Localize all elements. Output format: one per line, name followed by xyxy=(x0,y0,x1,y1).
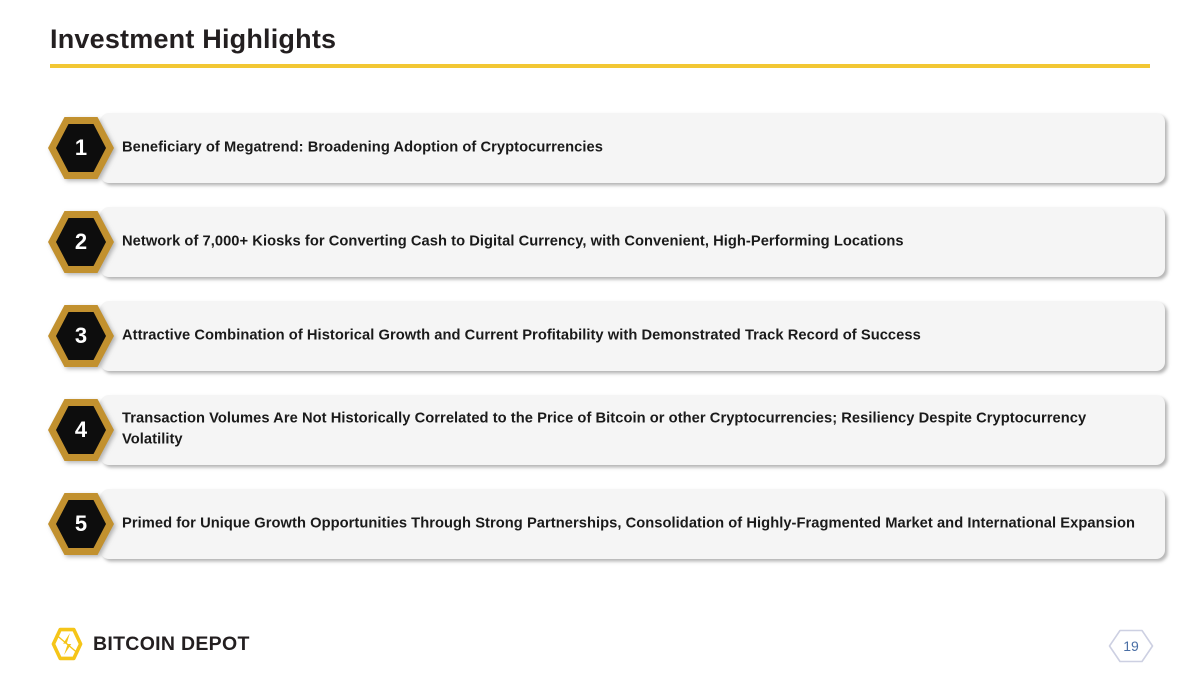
highlight-text: Beneficiary of Megatrend: Broadening Ado… xyxy=(122,137,1147,158)
list-item[interactable]: Primed for Unique Growth Opportunities T… xyxy=(0,489,1200,559)
highlight-number-badge: 3 xyxy=(48,303,114,369)
highlight-card[interactable]: Network of 7,000+ Kiosks for Converting … xyxy=(100,207,1165,277)
highlight-number-badge: 2 xyxy=(48,209,114,275)
investment-highlights-list: Beneficiary of Megatrend: Broadening Ado… xyxy=(0,113,1200,583)
highlight-number-badge: 5 xyxy=(48,491,114,557)
highlight-number-badge: 1 xyxy=(48,115,114,181)
page-number: 19 xyxy=(1108,629,1154,663)
list-item[interactable]: Attractive Combination of Historical Gro… xyxy=(0,301,1200,371)
highlight-card[interactable]: Transaction Volumes Are Not Historically… xyxy=(100,395,1165,465)
highlight-text: Transaction Volumes Are Not Historically… xyxy=(122,409,1147,452)
highlight-card[interactable]: Attractive Combination of Historical Gro… xyxy=(100,301,1165,371)
page-number-badge: 19 xyxy=(1108,629,1154,663)
highlight-number: 3 xyxy=(48,303,114,369)
list-item[interactable]: Transaction Volumes Are Not Historically… xyxy=(0,395,1200,465)
highlight-card[interactable]: Beneficiary of Megatrend: Broadening Ado… xyxy=(100,113,1165,183)
hexagon-lightning-bolt-icon xyxy=(50,627,84,661)
brand-logo: BITCOIN DEPOT xyxy=(50,627,250,661)
highlight-text: Network of 7,000+ Kiosks for Converting … xyxy=(122,231,1147,252)
highlight-number-badge: 4 xyxy=(48,397,114,463)
highlight-number: 4 xyxy=(48,397,114,463)
page-title: Investment Highlights xyxy=(50,24,336,55)
highlight-text: Primed for Unique Growth Opportunities T… xyxy=(122,513,1147,534)
highlight-number: 5 xyxy=(48,491,114,557)
title-underline-rule xyxy=(50,64,1150,68)
highlight-text: Attractive Combination of Historical Gro… xyxy=(122,325,1147,346)
highlight-number: 1 xyxy=(48,115,114,181)
list-item[interactable]: Beneficiary of Megatrend: Broadening Ado… xyxy=(0,113,1200,183)
brand-name: BITCOIN DEPOT xyxy=(93,633,250,656)
highlight-card[interactable]: Primed for Unique Growth Opportunities T… xyxy=(100,489,1165,559)
highlight-number: 2 xyxy=(48,209,114,275)
list-item[interactable]: Network of 7,000+ Kiosks for Converting … xyxy=(0,207,1200,277)
